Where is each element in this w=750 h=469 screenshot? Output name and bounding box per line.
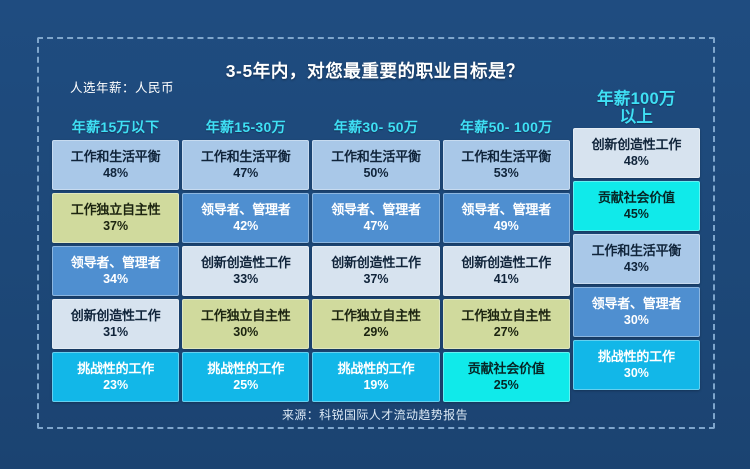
table-cell[interactable]: 工作和生活平衡48% [52,140,179,190]
salary-band-column: 年薪100万 以上创新创造性工作48%贡献社会价值45%工作和生活平衡43%领导… [573,100,700,402]
table-cell[interactable]: 创新创造性工作41% [443,246,570,296]
column-cells: 工作和生活平衡53%领导者、管理者49%创新创造性工作41%工作独立自主性27%… [443,140,570,402]
cell-percentage-value: 41% [494,272,519,287]
cell-percentage-value: 30% [233,325,258,340]
table-cell[interactable]: 贡献社会价值45% [573,181,700,231]
cell-percentage-value: 30% [624,366,649,381]
cell-percentage-value: 25% [494,378,519,393]
table-cell[interactable]: 领导者、管理者30% [573,287,700,337]
table-cell[interactable]: 贡献社会价值25% [443,352,570,402]
table-cell[interactable]: 工作和生活平衡53% [443,140,570,190]
page-title: 3-5年内，对您最重要的职业目标是？ [0,58,750,83]
table-cell[interactable]: 领导者、管理者42% [182,193,309,243]
cell-percentage-value: 47% [363,219,388,234]
cell-percentage-value: 47% [233,166,258,181]
cell-goal-label: 创新创造性工作 [331,255,421,271]
cell-goal-label: 挑战性的工作 [598,349,675,365]
table-cell[interactable]: 工作独立自主性37% [52,193,179,243]
table-cell[interactable]: 领导者、管理者47% [312,193,439,243]
salary-band-column: 年薪50- 100万工作和生活平衡53%领导者、管理者49%创新创造性工作41%… [443,100,570,402]
cell-percentage-value: 50% [363,166,388,181]
table-cell[interactable]: 挑战性的工作19% [312,352,439,402]
table-cell[interactable]: 工作和生活平衡43% [573,234,700,284]
cell-percentage-value: 53% [494,166,519,181]
cell-percentage-value: 30% [624,313,649,328]
table-cell[interactable]: 工作和生活平衡47% [182,140,309,190]
cell-percentage-value: 33% [233,272,258,287]
cell-goal-label: 工作独立自主性 [201,308,291,324]
table-cell[interactable]: 工作和生活平衡50% [312,140,439,190]
cell-percentage-value: 37% [103,219,128,234]
column-header-salary-band: 年薪15-30万 [182,100,309,140]
source-caption: 来源：科锐国际人才流动趋势报告 [0,406,750,423]
cell-goal-label: 领导者、管理者 [331,202,421,218]
cell-percentage-value: 27% [494,325,519,340]
cell-percentage-value: 31% [103,325,128,340]
column-cells: 工作和生活平衡47%领导者、管理者42%创新创造性工作33%工作独立自主性30%… [182,140,309,402]
cell-goal-label: 领导者、管理者 [461,202,551,218]
salary-band-column: 年薪15-30万工作和生活平衡47%领导者、管理者42%创新创造性工作33%工作… [182,100,309,402]
table-cell[interactable]: 创新创造性工作37% [312,246,439,296]
column-cells: 创新创造性工作48%贡献社会价值45%工作和生活平衡43%领导者、管理者30%挑… [573,128,700,390]
column-header-salary-band: 年薪30- 50万 [312,100,439,140]
cell-percentage-value: 23% [103,378,128,393]
cell-goal-label: 领导者、管理者 [201,202,291,218]
cell-percentage-value: 48% [624,154,649,169]
column-header-salary-band: 年薪50- 100万 [443,100,570,140]
cell-goal-label: 工作独立自主性 [461,308,551,324]
cell-goal-label: 工作独立自主性 [71,202,161,218]
table-cell[interactable]: 工作独立自主性30% [182,299,309,349]
cell-goal-label: 创新创造性工作 [71,308,161,324]
table-cell[interactable]: 领导者、管理者49% [443,193,570,243]
column-cells: 工作和生活平衡50%领导者、管理者47%创新创造性工作37%工作独立自主性29%… [312,140,439,402]
cell-percentage-value: 49% [494,219,519,234]
cell-goal-label: 工作和生活平衡 [201,149,291,165]
column-cells: 工作和生活平衡48%工作独立自主性37%领导者、管理者34%创新创造性工作31%… [52,140,179,402]
table-cell[interactable]: 挑战性的工作30% [573,340,700,390]
table-cell[interactable]: 创新创造性工作33% [182,246,309,296]
infographic-root: 人选年薪：人民币 3-5年内，对您最重要的职业目标是？ 年薪15万以下工作和生活… [0,0,750,469]
cell-goal-label: 创新创造性工作 [201,255,291,271]
column-header-salary-band: 年薪15万以下 [52,100,179,140]
cell-goal-label: 领导者、管理者 [71,255,161,271]
cell-goal-label: 贡献社会价值 [598,190,675,206]
table-cell[interactable]: 挑战性的工作25% [182,352,309,402]
cell-goal-label: 工作和生活平衡 [461,149,551,165]
column-header-salary-band: 年薪100万 以上 [573,88,700,128]
salary-band-column: 年薪15万以下工作和生活平衡48%工作独立自主性37%领导者、管理者34%创新创… [52,100,179,402]
table-cell[interactable]: 创新创造性工作48% [573,128,700,178]
cell-percentage-value: 45% [624,207,649,222]
table-cell[interactable]: 创新创造性工作31% [52,299,179,349]
salary-band-column: 年薪30- 50万工作和生活平衡50%领导者、管理者47%创新创造性工作37%工… [312,100,439,402]
cell-percentage-value: 48% [103,166,128,181]
cell-percentage-value: 42% [233,219,258,234]
cell-goal-label: 挑战性的工作 [77,361,154,377]
cell-percentage-value: 34% [103,272,128,287]
table-cell[interactable]: 挑战性的工作23% [52,352,179,402]
cell-goal-label: 挑战性的工作 [207,361,284,377]
cell-percentage-value: 29% [363,325,388,340]
table-cell[interactable]: 工作独立自主性27% [443,299,570,349]
cell-goal-label: 工作和生活平衡 [71,149,161,165]
table-cell[interactable]: 领导者、管理者34% [52,246,179,296]
cell-percentage-value: 25% [233,378,258,393]
cell-percentage-value: 43% [624,260,649,275]
cell-goal-label: 创新创造性工作 [592,137,682,153]
career-goals-table: 年薪15万以下工作和生活平衡48%工作独立自主性37%领导者、管理者34%创新创… [52,100,700,402]
cell-goal-label: 贡献社会价值 [468,361,545,377]
cell-goal-label: 创新创造性工作 [461,255,551,271]
cell-goal-label: 工作独立自主性 [331,308,421,324]
cell-goal-label: 工作和生活平衡 [592,243,682,259]
cell-goal-label: 挑战性的工作 [338,361,415,377]
cell-goal-label: 领导者、管理者 [592,296,682,312]
table-cell[interactable]: 工作独立自主性29% [312,299,439,349]
cell-percentage-value: 37% [363,272,388,287]
cell-percentage-value: 19% [363,378,388,393]
cell-goal-label: 工作和生活平衡 [331,149,421,165]
